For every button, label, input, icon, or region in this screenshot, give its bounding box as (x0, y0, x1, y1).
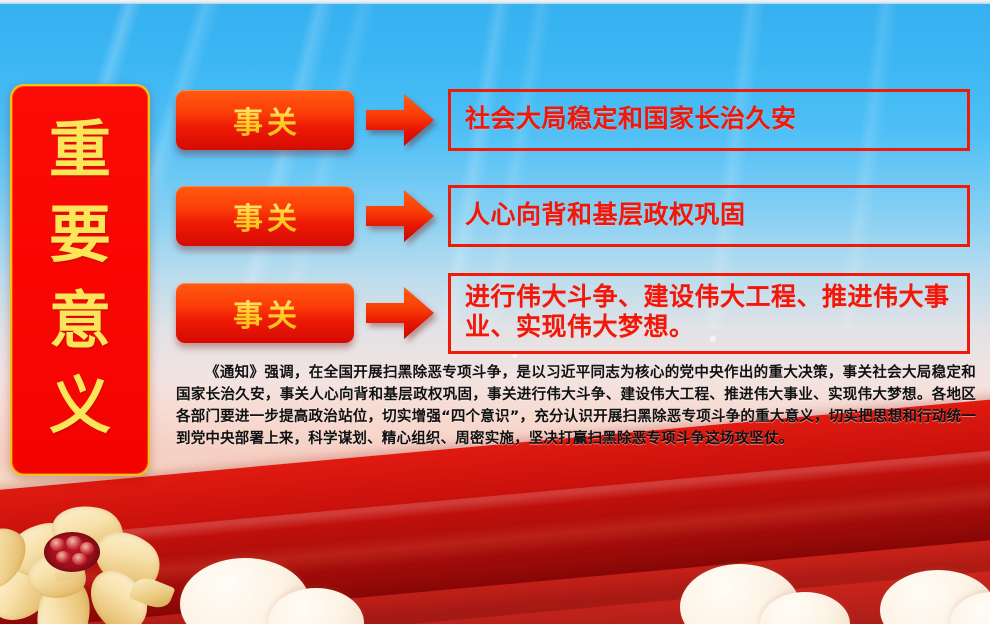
golden-peony-flower-icon (0, 484, 172, 624)
important-significance-banner: 重 要 意 义 (10, 84, 150, 476)
right-arrow-icon (364, 186, 436, 246)
significance-row-1: 事关 社会大局稳定和国家长治久安 (176, 86, 970, 154)
shiguan-tag-label-3: 事关 (229, 291, 301, 335)
statement-box-1: 社会大局稳定和国家长治久安 (448, 89, 970, 151)
right-arrow-icon (364, 90, 436, 150)
body-paragraph: 《通知》强调，在全国开展扫黑除恶专项斗争，是以习近平同志为核心的党中央作出的重大… (176, 362, 976, 450)
shiguan-tag-1[interactable]: 事关 (176, 90, 354, 150)
banner-char-3: 意 (49, 290, 111, 352)
banner-char-2: 要 (49, 204, 111, 266)
peony-center-dot (50, 538, 65, 551)
peony-center-dot (72, 553, 87, 565)
top-edge-strip (0, 0, 990, 4)
slide-canvas: 重 要 意 义 事关 社会大局稳定和国家长治久安 (0, 0, 990, 624)
right-arrow-icon (364, 283, 436, 343)
shiguan-tag-2[interactable]: 事关 (176, 186, 354, 246)
significance-row-3: 事关 进行伟大斗争、建设伟大工程、推进伟大事业、实现伟大梦想。 (176, 272, 970, 354)
shiguan-tag-label-2: 事关 (229, 194, 301, 238)
banner-char-4: 义 (49, 375, 111, 437)
peony-center-dot (56, 551, 70, 563)
significance-row-2: 事关 人心向背和基层政权巩固 (176, 182, 970, 250)
statement-box-2: 人心向背和基层政权巩固 (448, 185, 970, 247)
statement-text-1: 社会大局稳定和国家长治久安 (465, 104, 797, 135)
peony-center (44, 532, 100, 572)
statement-text-3: 进行伟大斗争、建设伟大工程、推进伟大事业、实现伟大梦想。 (465, 282, 957, 343)
statement-text-2: 人心向背和基层政权巩固 (465, 200, 746, 231)
shiguan-tag-3[interactable]: 事关 (176, 283, 354, 343)
banner-char-1: 重 (49, 119, 111, 181)
statement-box-3: 进行伟大斗争、建设伟大工程、推进伟大事业、实现伟大梦想。 (448, 273, 970, 354)
shiguan-tag-label-1: 事关 (229, 98, 301, 142)
